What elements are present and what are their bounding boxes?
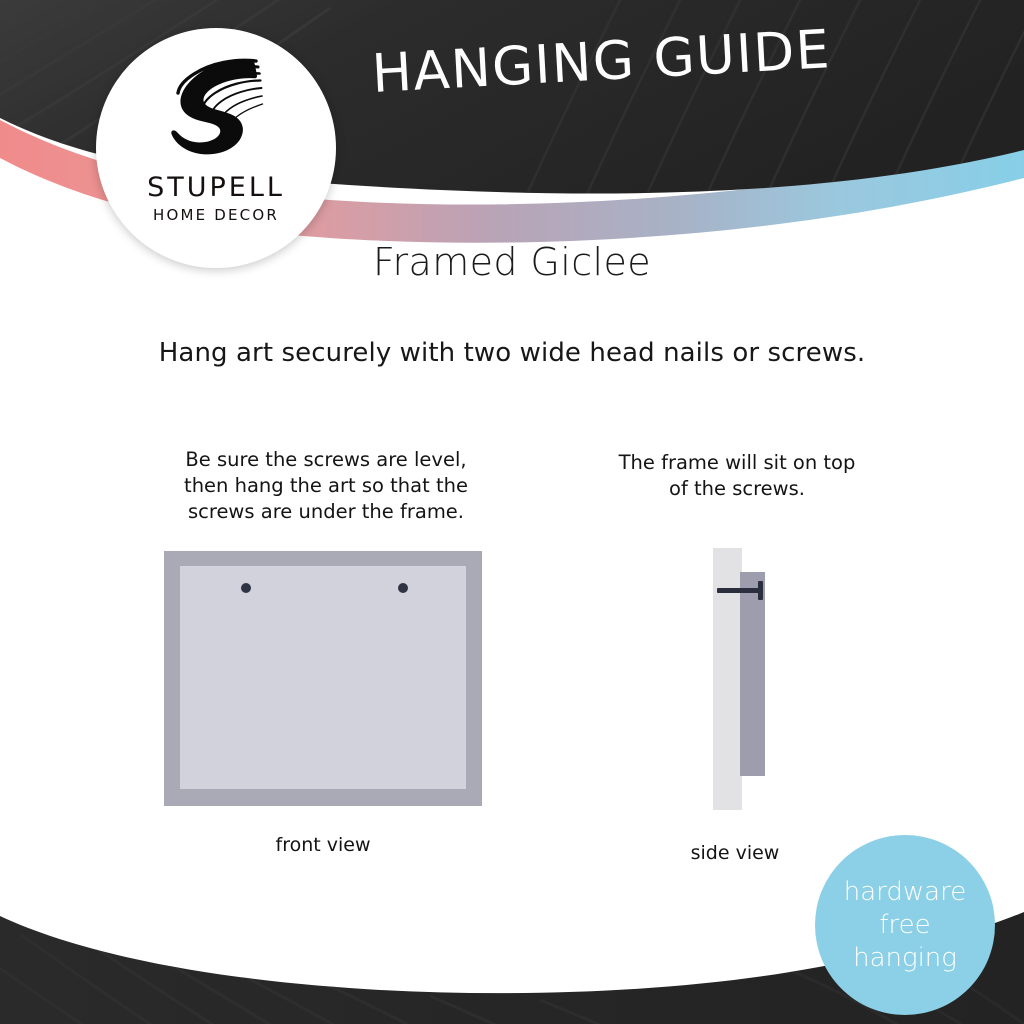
caption-line: then hang the art so that the	[146, 473, 506, 499]
caption-line: of the screws.	[592, 476, 882, 502]
front-view-diagram	[164, 551, 482, 806]
product-type-heading: Framed Giclee	[373, 240, 651, 284]
picture-frame-artwork	[180, 566, 466, 789]
screw-marker-left	[241, 583, 251, 593]
caption-line: Be sure the screws are level,	[146, 447, 506, 473]
stupell-s-swoosh-icon	[153, 50, 279, 168]
brand-name: STUPELL	[147, 174, 285, 201]
nail-shaft-icon	[717, 588, 762, 593]
badge-line-3: hanging	[853, 942, 957, 975]
front-view-label: front view	[163, 834, 483, 856]
side-view-diagram	[707, 548, 783, 810]
hanging-guide-page: HANGING GUIDE STUPELL HOME DECOR Framed …	[0, 0, 1024, 1024]
hardware-free-hanging-badge: hardware free hanging	[815, 835, 995, 1015]
frame-profile	[740, 572, 765, 776]
nail-head-icon	[758, 581, 763, 600]
page-title: HANGING GUIDE	[370, 19, 832, 105]
caption-line: screws are under the frame.	[146, 499, 506, 525]
brand-logo-badge: STUPELL HOME DECOR	[96, 28, 336, 268]
front-view-caption: Be sure the screws are level, then hang …	[146, 447, 506, 525]
badge-line-2: free	[879, 909, 930, 942]
side-view-label: side view	[645, 842, 825, 864]
side-view-caption: The frame will sit on top of the screws.	[592, 450, 882, 502]
screw-marker-right	[398, 583, 408, 593]
badge-line-1: hardware	[844, 876, 966, 909]
brand-tagline: HOME DECOR	[153, 208, 279, 223]
main-instruction-text: Hang art securely with two wide head nai…	[0, 338, 1024, 368]
caption-line: The frame will sit on top	[592, 450, 882, 476]
